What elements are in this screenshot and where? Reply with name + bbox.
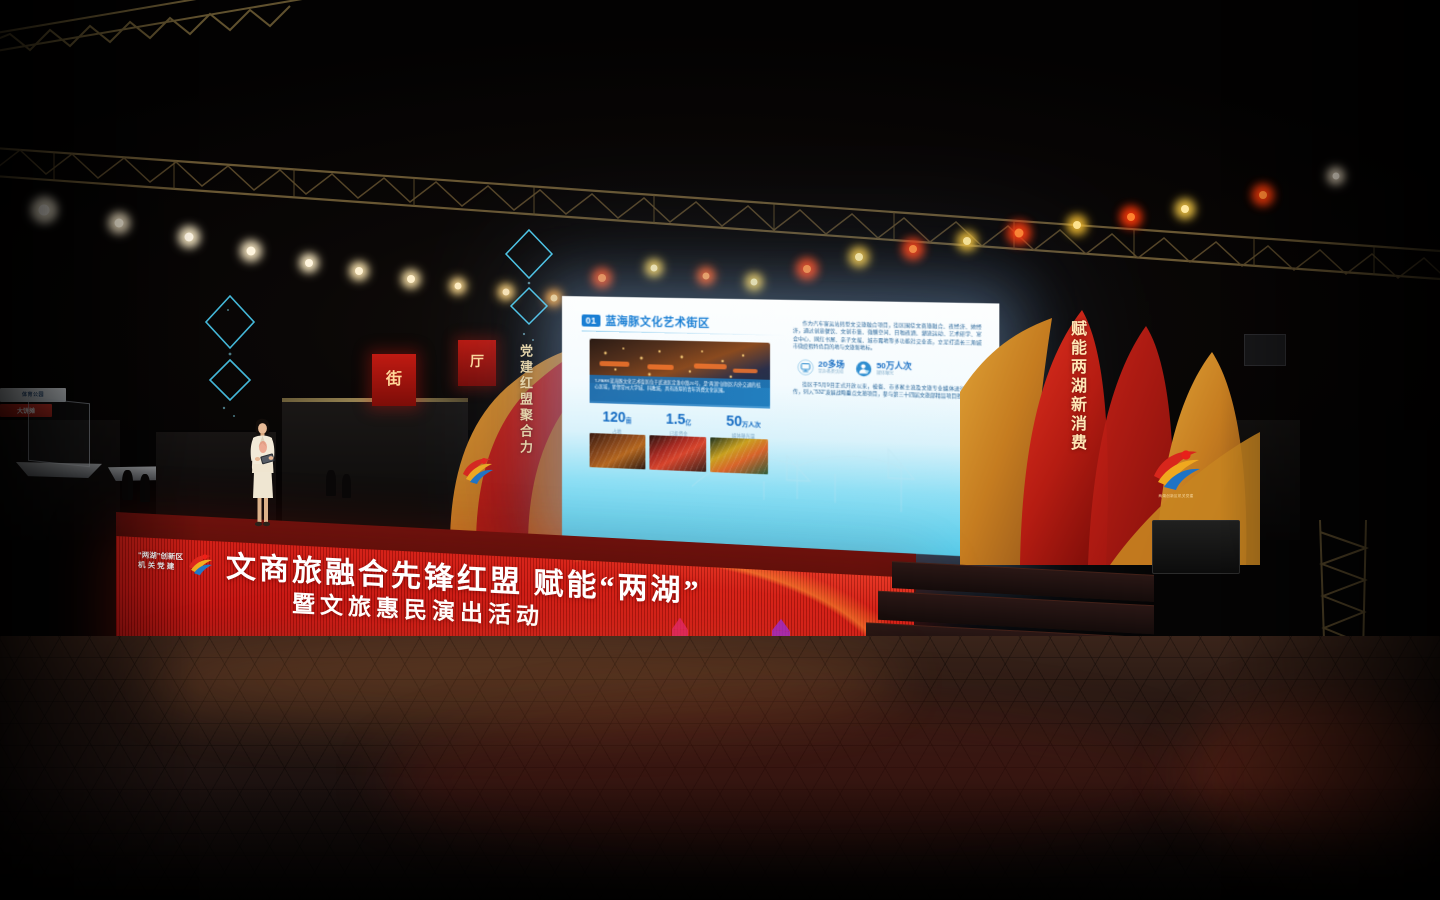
stage-lamp xyxy=(1178,202,1191,215)
stage-scene: 体育公园 大饼摊 街 厅 党建红盟聚合力 xyxy=(0,0,1440,900)
screen-icon xyxy=(797,359,814,376)
icon-stat-label: 媒体曝光 xyxy=(876,370,911,377)
blue-diamond-light xyxy=(200,292,260,427)
slide-paragraph-2: 街区于5月9日正式开放以来，被省、市多家主流及文旅专业媒体进行报道宣传，列入“5… xyxy=(793,381,982,402)
slide-thumbnail-row xyxy=(590,433,768,474)
left-panel-vertical-text: 党建红盟聚合力 xyxy=(516,344,535,456)
scene-vignette-right xyxy=(1220,0,1440,900)
stat-value: 50 xyxy=(726,412,742,429)
presentation-slide: 01 蓝海豚文化艺术街区 xyxy=(562,296,999,558)
thumbnail-image xyxy=(710,437,768,474)
right-panel-vertical-text: 赋能两湖新消费 xyxy=(1064,320,1088,453)
red-signboard-back: 街 xyxy=(372,354,416,406)
stage-lamp xyxy=(748,276,760,288)
stage-lamp xyxy=(1124,210,1137,223)
slide-body-column: 作为汽车客运站转型文交旅融合项目，街区围绕文商旅融合、夜经济、她经济，通过创意餐… xyxy=(793,321,982,402)
slide-title-rule xyxy=(582,330,785,335)
stage-lamp xyxy=(404,272,417,285)
scene-vignette-left xyxy=(0,0,200,900)
stage-lamp xyxy=(302,256,315,269)
slide-number: 01 xyxy=(582,314,601,326)
slide-paragraph-1: 作为汽车客运站转型文交旅融合项目，街区围绕文商旅融合、夜经济、她经济，通过创意餐… xyxy=(793,321,982,356)
hero-caption: T-PARK蓝海豚文化艺术街区位于武进区定淮中路20号，是“两湖”创新区内外交通… xyxy=(590,375,770,409)
slide-icon-stats: 20多场 举办各类活动 xyxy=(797,359,982,381)
stage-lamp xyxy=(244,244,258,258)
stat-item: 1.5亿 已投资金 xyxy=(666,411,692,437)
stage-lamp xyxy=(852,250,865,263)
stage-lamp xyxy=(648,262,660,274)
slide-badge: 01 蓝海豚文化艺术街区 xyxy=(582,312,710,331)
stat-unit: 亿 xyxy=(685,420,691,426)
left-panel-party-logo xyxy=(460,452,494,486)
right-panel-party-logo: 两湖创新区机关党建 xyxy=(1150,442,1202,494)
stage-lamp xyxy=(1070,218,1083,231)
stat-item: 50万人次 媒体曝光量 xyxy=(726,413,761,440)
stage-lamp xyxy=(700,270,712,282)
stat-value: 1.5 xyxy=(666,410,686,427)
crowd-silhouette xyxy=(326,470,336,496)
stat-value: 120 xyxy=(602,408,625,425)
person-heart-icon xyxy=(855,360,872,377)
stat-unit: 万人次 xyxy=(742,422,761,429)
stat-unit: 亩 xyxy=(626,418,632,424)
right-panel-logo-caption: 两湖创新区机关党建 xyxy=(1158,494,1193,499)
stage-lamp xyxy=(1012,226,1026,240)
icon-stat-item: 50万人次 媒体曝光 xyxy=(855,360,912,378)
icon-stat-item: 20多场 举办各类活动 xyxy=(797,359,844,377)
stat-item: 120亩 占地 xyxy=(602,409,631,435)
stage-lamp xyxy=(800,262,813,275)
thumbnail-image xyxy=(590,433,646,469)
stage-lamp xyxy=(960,234,973,247)
stage-lamp xyxy=(352,264,365,277)
stage-lamp xyxy=(596,272,608,284)
stage-lamp xyxy=(906,242,919,255)
thumbnail-image xyxy=(649,435,706,472)
presenter xyxy=(244,414,280,532)
slide-title: 蓝海豚文化艺术街区 xyxy=(605,313,709,331)
crowd-silhouette xyxy=(342,474,351,498)
icon-stat-label: 举办各类活动 xyxy=(818,369,844,376)
stage-lamp xyxy=(452,280,464,292)
led-screen[interactable]: 01 蓝海豚文化艺术街区 xyxy=(562,296,999,558)
